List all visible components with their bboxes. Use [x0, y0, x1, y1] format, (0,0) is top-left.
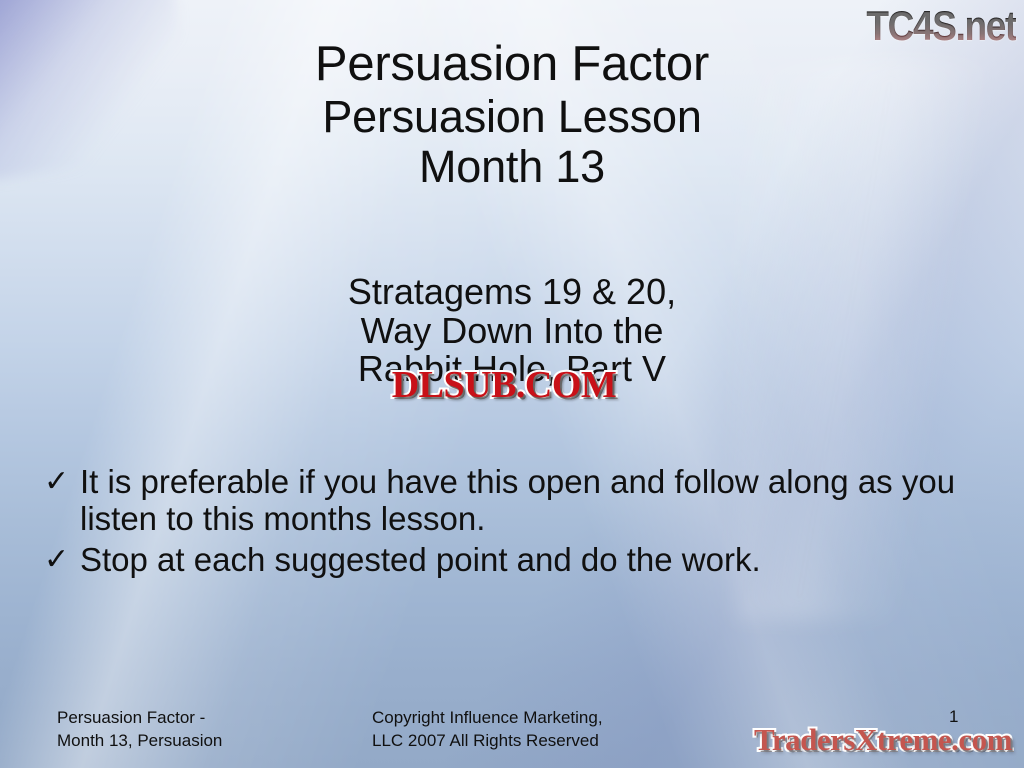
title-line-2: Persuasion Lesson	[0, 94, 1024, 140]
subtitle-line-3: Rabbit Hole, Part V	[0, 350, 1024, 389]
footer-copyright-text: Copyright Influence Marketing, LLC 2007 …	[372, 707, 603, 753]
subtitle-line-2: Way Down Into the	[0, 312, 1024, 351]
list-item-text: Stop at each suggested point and do the …	[80, 542, 964, 579]
list-item-text: It is preferable if you have this open a…	[80, 464, 964, 538]
footer-left-text: Persuasion Factor - Month 13, Persuasion	[57, 707, 222, 753]
title-line-3: Month 13	[0, 144, 1024, 190]
checkmark-icon: ✓	[44, 464, 80, 500]
slide-title: Persuasion Factor Persuasion Lesson Mont…	[0, 40, 1024, 190]
title-line-1: Persuasion Factor	[0, 40, 1024, 90]
tradersxtreme-logo: TradersXtreme.com	[754, 722, 1012, 758]
slide-subtitle: Stratagems 19 & 20, Way Down Into the Ra…	[0, 273, 1024, 389]
list-item: ✓ Stop at each suggested point and do th…	[44, 542, 964, 579]
checkmark-icon: ✓	[44, 542, 80, 578]
list-item: ✓ It is preferable if you have this open…	[44, 464, 964, 538]
bullet-list: ✓ It is preferable if you have this open…	[44, 464, 964, 583]
presentation-slide: TC4S.net Persuasion Factor Persuasion Le…	[0, 0, 1024, 768]
subtitle-line-1: Stratagems 19 & 20,	[0, 273, 1024, 312]
